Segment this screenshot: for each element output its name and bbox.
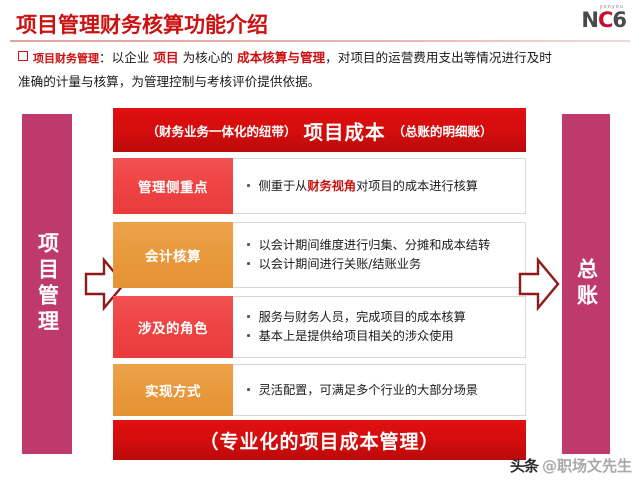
- row-label-cell[interactable]: 涉及的角色: [113, 296, 233, 358]
- pillar-right-label: 总账: [573, 258, 600, 310]
- top-banner: （财务业务一体化的纽带） 项目成本 （总账的明细账）: [113, 108, 526, 152]
- description-block: 项目财务管理：以企业 项目 为核心的 成本核算与管理，对项目的运营费用支出等情况…: [18, 46, 622, 93]
- logo-wordmark: NC6: [548, 10, 626, 31]
- bullet-text-pre: 灵活配置，可满足多个行业的大部分场景: [259, 381, 478, 400]
- top-banner-left-paren: （财务业务一体化的纽带）: [146, 121, 296, 140]
- slide-header: 项目管理财务核算功能介绍 yonyou NC6: [0, 0, 640, 41]
- arrow-right-icon-right: [518, 256, 560, 312]
- row-label-cell[interactable]: 管理侧重点: [113, 158, 233, 214]
- bullet-text-pre: 基本上是提供给项目相关的涉众使用: [259, 327, 454, 346]
- row-label-cell[interactable]: 实现方式: [113, 364, 233, 416]
- description-seg-1: 以企业: [112, 50, 154, 65]
- bullet-text-pre: 服务与财务人员，完成项目的成本核算: [259, 308, 466, 327]
- logo-letter-c: C: [598, 8, 612, 32]
- table-row: 实现方式 灵活配置，可满足多个行业的大部分场景: [113, 364, 526, 416]
- diagram-canvas: 项目管理 （财务业务一体化的纽带） 项目成本 （总账的明细账） 管理侧重点: [0, 104, 640, 464]
- row-label-cell[interactable]: 会计核算: [113, 222, 233, 288]
- center-column: （财务业务一体化的纽带） 项目成本 （总账的明细账） 管理侧重点 侧重于从财务视…: [113, 108, 526, 460]
- description-seg-2: 为核心的: [179, 50, 237, 65]
- logo-letter-n: N: [581, 8, 598, 32]
- description-colon: ：: [99, 50, 112, 65]
- bottom-banner-text: （专业化的项目成本管理）: [199, 427, 439, 454]
- top-banner-right-paren: （总账的明细账）: [393, 121, 493, 140]
- bullet-dot-icon: [247, 315, 250, 318]
- header-divider: [10, 40, 630, 42]
- pillar-project-management: 项目管理: [22, 114, 72, 454]
- row-body-cell: 以会计期间维度进行归集、分摊和成本结转 以会计期间进行关账/结账业务: [233, 222, 526, 288]
- bullet-dot-icon: [247, 262, 250, 265]
- logo-letter-6: 6: [612, 8, 626, 32]
- bullet-line: 以会计期间进行关账/结账业务: [247, 255, 517, 274]
- table-row: 管理侧重点 侧重于从财务视角对项目的成本进行核算: [113, 158, 526, 214]
- row-label-text: 会计核算: [145, 245, 201, 265]
- watermark: 头条 @职场文先生: [510, 455, 632, 476]
- table-row: 涉及的角色 服务与财务人员，完成项目的成本核算 基本上是提供给项目相关的涉众使用: [113, 296, 526, 358]
- row-label-text: 涉及的角色: [138, 317, 208, 337]
- bullet-dot-icon: [247, 184, 250, 187]
- description-emphasis-1: 项目: [153, 50, 178, 65]
- bullet-text-pre: 以会计期间进行关账/结账业务: [259, 255, 422, 274]
- watermark-platform: 头条: [510, 455, 538, 476]
- bullet-dot-icon: [247, 388, 250, 391]
- description-line-2: 准确的计量与核算，为管理控制与考核评价提供依据。: [18, 70, 622, 93]
- nc6-logo: yonyou NC6: [548, 4, 626, 34]
- bullet-text-pre: 侧重于从: [259, 179, 308, 193]
- bullet-line: 基本上是提供给项目相关的涉众使用: [247, 327, 517, 346]
- bullet-dot-icon: [247, 243, 250, 246]
- row-body-cell: 侧重于从财务视角对项目的成本进行核算: [233, 158, 526, 214]
- top-banner-main: 项目成本: [303, 116, 385, 145]
- watermark-account: @职场文先生: [542, 455, 632, 476]
- table-row: 会计核算 以会计期间维度进行归集、分摊和成本结转 以会计期间进行关账/结账业务: [113, 222, 526, 288]
- bottom-banner: （专业化的项目成本管理）: [113, 420, 526, 460]
- square-outline-icon: [18, 51, 28, 61]
- bullet-text-emphasis: 财务视角: [307, 179, 356, 193]
- rows-container: 管理侧重点 侧重于从财务视角对项目的成本进行核算 会计核算 以: [113, 158, 526, 416]
- row-body-cell: 灵活配置，可满足多个行业的大部分场景: [233, 364, 526, 416]
- description-label: 项目财务管理: [33, 52, 99, 65]
- description-emphasis-2: 成本核算与管理: [237, 50, 325, 65]
- pillar-general-ledger: 总账: [562, 114, 610, 454]
- page-title: 项目管理财务核算功能介绍: [16, 9, 268, 39]
- bullet-line: 侧重于从财务视角对项目的成本进行核算: [247, 177, 517, 196]
- bullet-dot-icon: [247, 334, 250, 337]
- row-label-text: 管理侧重点: [138, 176, 208, 196]
- bullet-line: 服务与财务人员，完成项目的成本核算: [247, 308, 517, 327]
- description-line-1: 项目财务管理：以企业 项目 为核心的 成本核算与管理，对项目的运营费用支出等情况…: [18, 46, 622, 70]
- bullet-line: 以会计期间维度进行归集、分摊和成本结转: [247, 236, 517, 255]
- pillar-left-label: 项目管理: [34, 232, 61, 336]
- row-label-text: 实现方式: [145, 380, 201, 400]
- row-body-cell: 服务与财务人员，完成项目的成本核算 基本上是提供给项目相关的涉众使用: [233, 296, 526, 358]
- bullet-text-pre: 以会计期间维度进行归集、分摊和成本结转: [259, 236, 491, 255]
- bullet-text-post: 对项目的成本进行核算: [356, 179, 478, 193]
- description-seg-3: ，对项目的运营费用支出等情况进行及时: [325, 50, 552, 65]
- bullet-line: 灵活配置，可满足多个行业的大部分场景: [247, 381, 517, 400]
